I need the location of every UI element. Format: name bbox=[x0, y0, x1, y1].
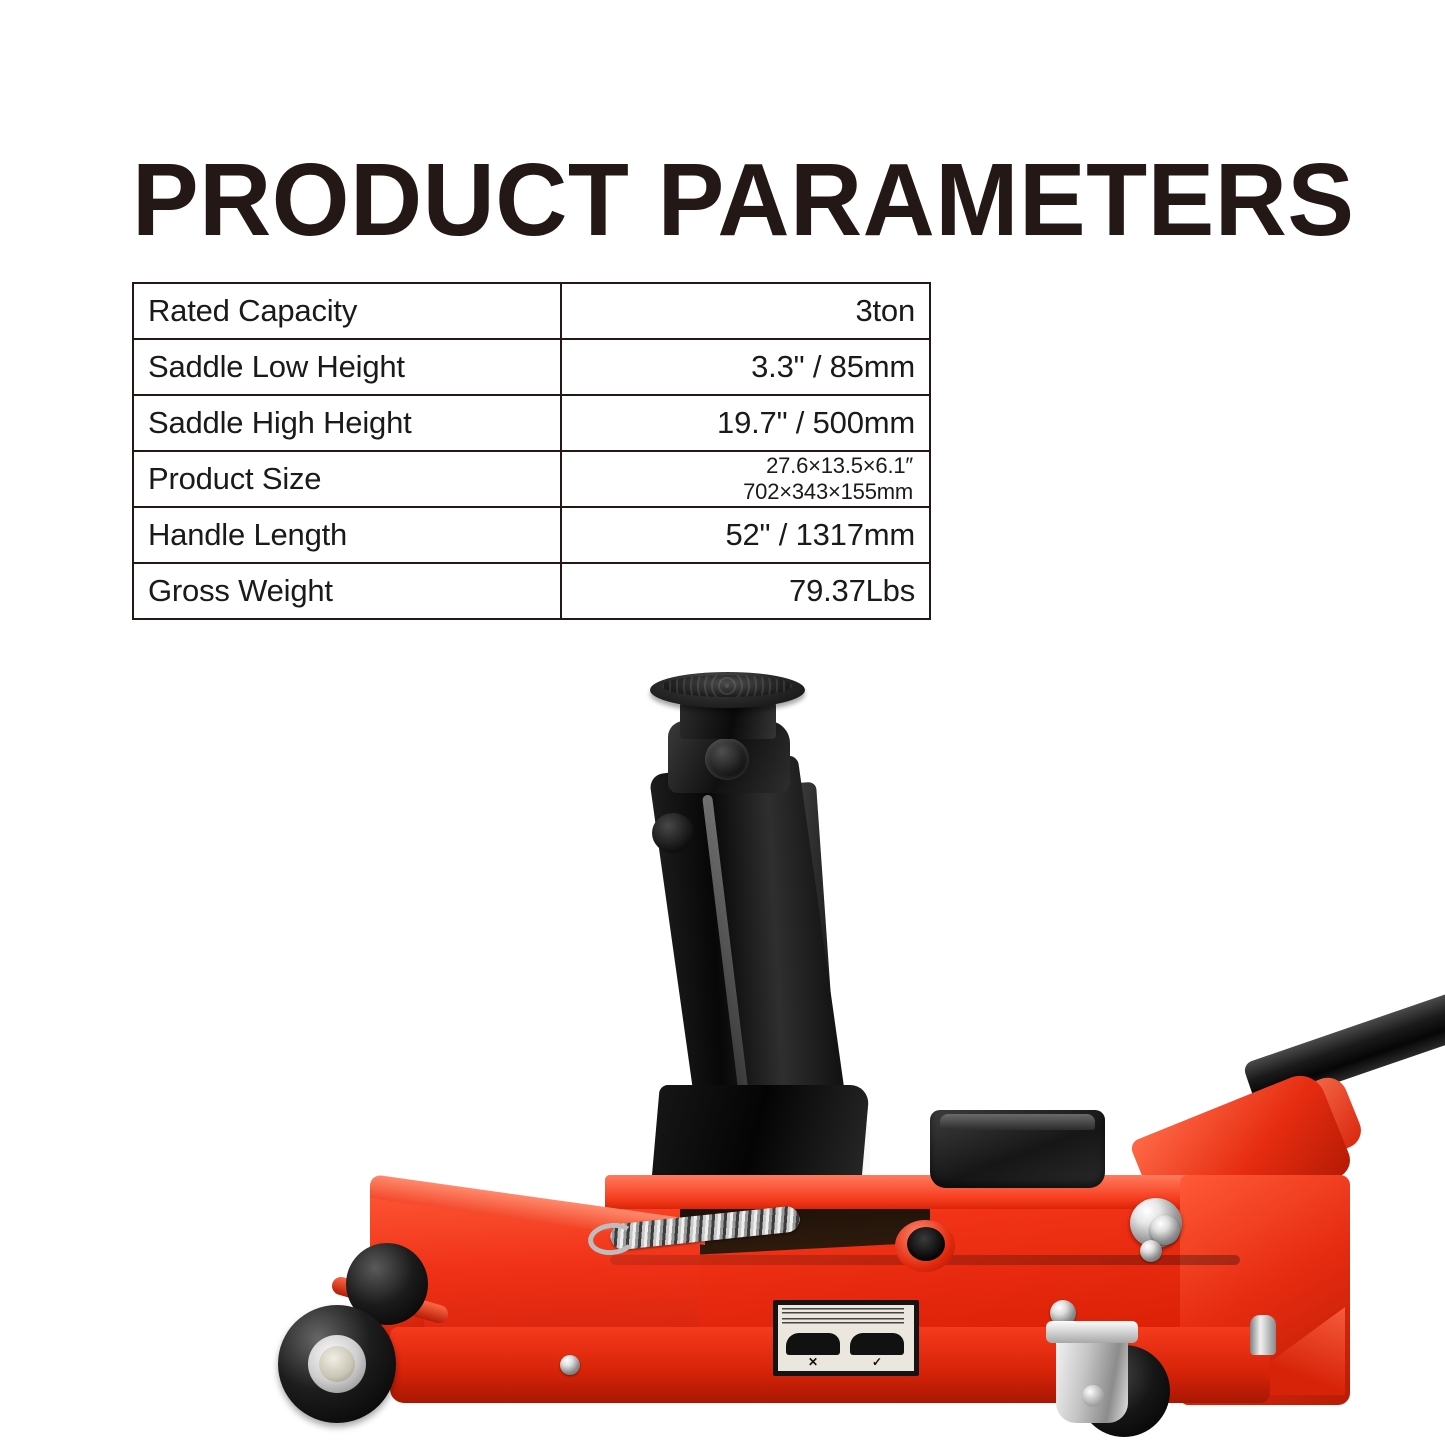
spec-value-rated-capacity: 3ton bbox=[561, 283, 930, 339]
table-row: Product Size 27.6×13.5×6.1″ 702×343×155m… bbox=[133, 451, 930, 507]
table-row: Gross Weight 79.37Lbs bbox=[133, 563, 930, 619]
spec-table-body: Rated Capacity 3ton Saddle Low Height 3.… bbox=[133, 283, 930, 619]
saddle-plate-surface bbox=[662, 675, 792, 697]
page-title: PRODUCT PARAMETERS bbox=[132, 145, 1325, 255]
spec-value-product-size-inches: 27.6×13.5×6.1″ bbox=[576, 453, 913, 479]
handle-tube bbox=[1242, 928, 1445, 1110]
spec-label-handle-length: Handle Length bbox=[133, 507, 561, 563]
spec-value-product-size-mm: 702×343×155mm bbox=[576, 479, 913, 505]
spec-label-rated-capacity: Rated Capacity bbox=[133, 283, 561, 339]
table-row: Handle Length 52" / 1317mm bbox=[133, 507, 930, 563]
chrome-bolt bbox=[1140, 1240, 1162, 1262]
spec-value-gross-weight: 79.37Lbs bbox=[561, 563, 930, 619]
spec-value-product-size: 27.6×13.5×6.1″ 702×343×155mm bbox=[561, 451, 930, 507]
lift-arm-pivot-boss bbox=[652, 813, 694, 853]
rear-caster-mount-plate bbox=[1046, 1321, 1138, 1343]
spec-label-saddle-low-height: Saddle Low Height bbox=[133, 339, 561, 395]
chrome-bolt bbox=[560, 1355, 580, 1375]
front-wheel-hub bbox=[319, 1346, 355, 1382]
spec-value-saddle-high-height: 19.7" / 500mm bbox=[561, 395, 930, 451]
spec-label-gross-weight: Gross Weight bbox=[133, 563, 561, 619]
rear-caster-axle-pin bbox=[1082, 1385, 1104, 1407]
table-row: Saddle High Height 19.7" / 500mm bbox=[133, 395, 930, 451]
spec-value-saddle-low-height: 3.3" / 85mm bbox=[561, 339, 930, 395]
spec-label-product-size: Product Size bbox=[133, 451, 561, 507]
rear-caster-bracket bbox=[1056, 1331, 1128, 1423]
warning-decal: ✕ ✓ bbox=[773, 1300, 919, 1376]
oil-fill-port-hole bbox=[907, 1227, 945, 1261]
table-row: Rated Capacity 3ton bbox=[133, 283, 930, 339]
warning-decal-car-correct bbox=[850, 1333, 904, 1355]
warning-decal-text-lines bbox=[782, 1308, 904, 1329]
grease-nipple bbox=[1250, 1315, 1276, 1355]
warning-decal-car-incorrect bbox=[786, 1333, 840, 1355]
knuckle-pivot-boss bbox=[705, 738, 749, 780]
table-row: Saddle Low Height 3.3" / 85mm bbox=[133, 339, 930, 395]
warning-incorrect-icon: ✕ bbox=[808, 1355, 818, 1369]
specification-table: Rated Capacity 3ton Saddle Low Height 3.… bbox=[132, 282, 931, 620]
pump-housing-lip bbox=[940, 1114, 1095, 1130]
spec-value-handle-length: 52" / 1317mm bbox=[561, 507, 930, 563]
warning-correct-icon: ✓ bbox=[872, 1355, 882, 1369]
product-parameters-page: PRODUCT PARAMETERS Rated Capacity 3ton S… bbox=[0, 0, 1445, 1445]
product-photo-floor-jack: HY bbox=[250, 655, 1445, 1445]
spec-label-saddle-high-height: Saddle High Height bbox=[133, 395, 561, 451]
